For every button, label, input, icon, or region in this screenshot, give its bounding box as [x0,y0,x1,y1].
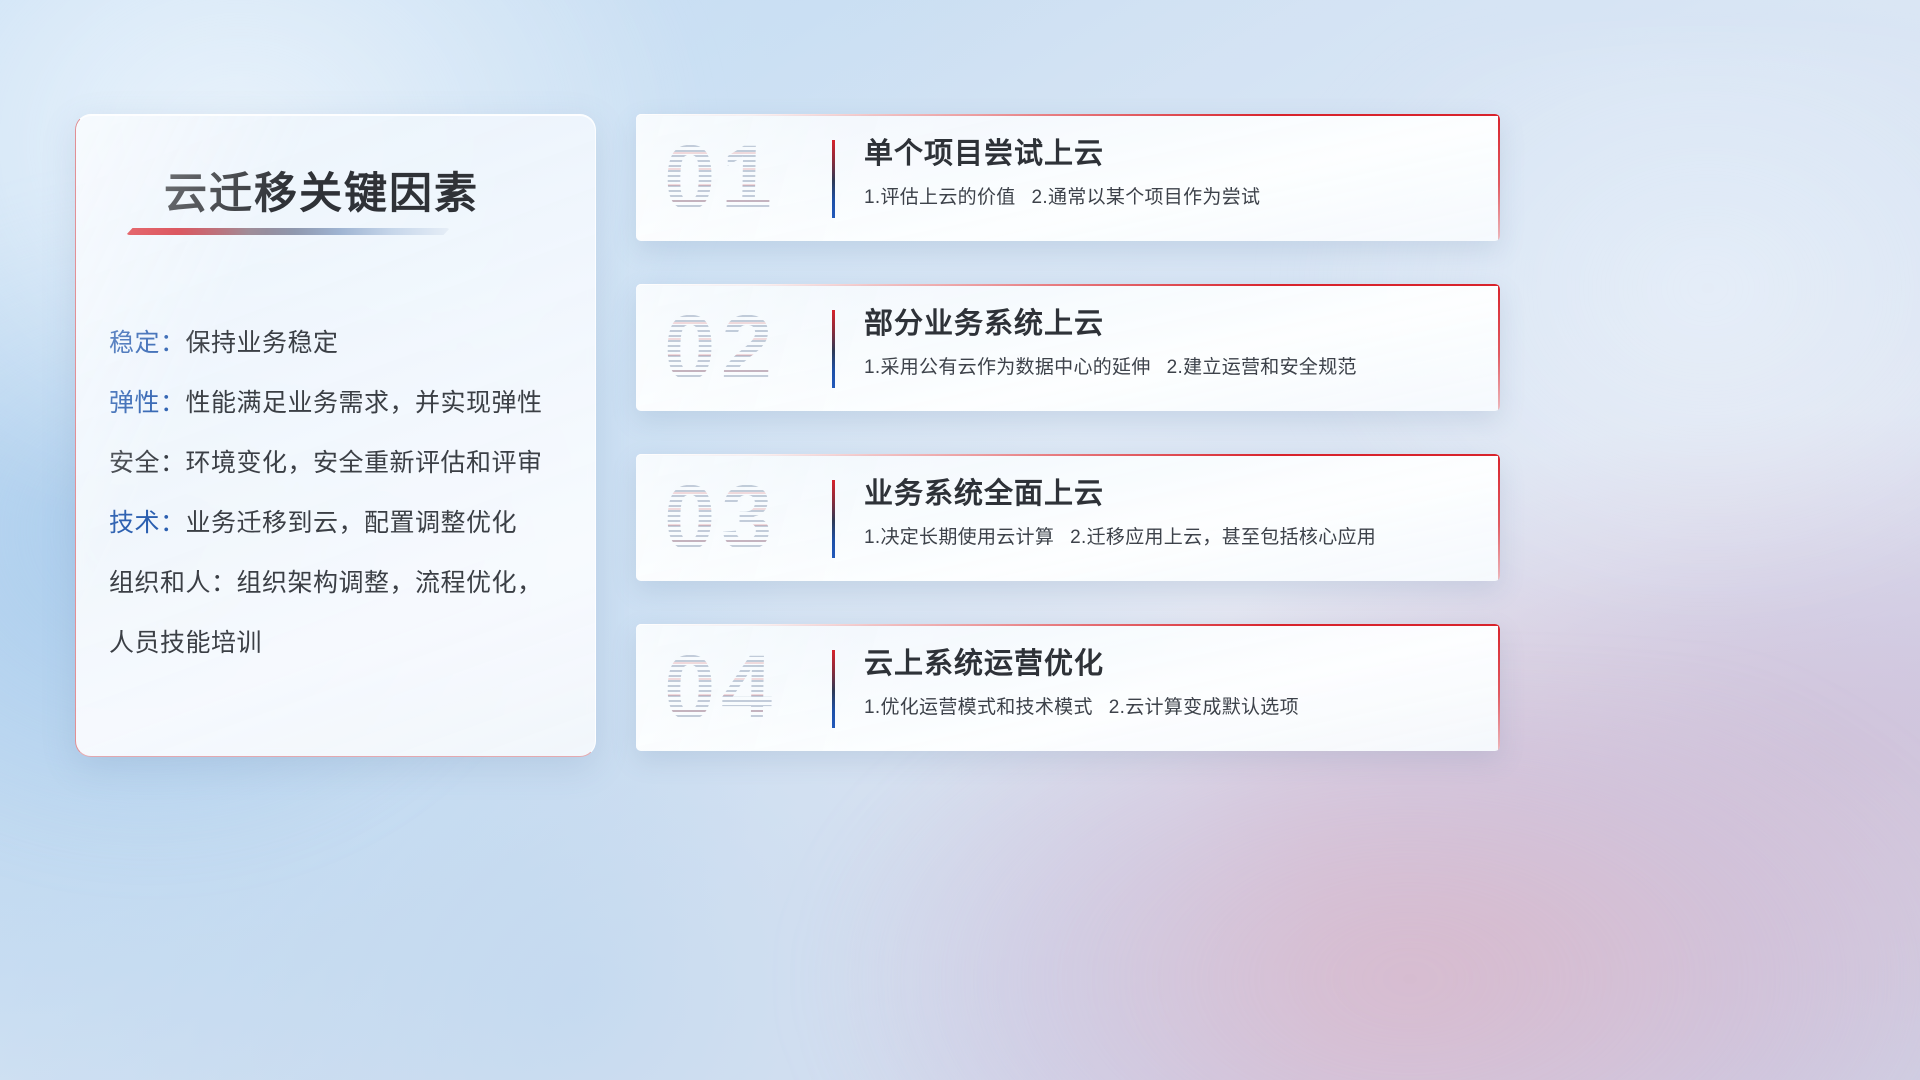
card-title: 业务系统全面上云 [864,474,1478,514]
list-item: 稳定：保持业务稳定 [109,313,573,373]
card-subtitle-part-2: 2.云计算变成默认选项 [1109,697,1299,718]
card-subtitle-part-2: 2.迁移应用上云，甚至包括核心应用 [1070,527,1376,548]
card-body: 部分业务系统上云 1.采用公有云作为数据中心的延伸2.建立运营和安全规范 [864,304,1478,381]
card-body: 业务系统全面上云 1.决定长期使用云计算2.迁移应用上云，甚至包括核心应用 [864,474,1478,551]
stage-card-list: 01 01 单个项目尝试上云 1.评估上云的价值2.通常以某个项目作为尝试 02… [636,114,1500,794]
card-subtitle: 1.决定长期使用云计算2.迁移应用上云，甚至包括核心应用 [864,525,1478,551]
card-title: 云上系统运营优化 [864,644,1478,684]
card-subtitle-part-1: 1.评估上云的价值 [864,187,1016,208]
card-subtitle-part-1: 1.优化运营模式和技术模式 [864,697,1093,718]
bullet-label: 弹性： [109,389,186,417]
bullet-text: 保持业务稳定 [186,329,339,357]
bullet-text: 业务迁移到云，配置调整优化 [186,509,518,537]
list-item: 技术：业务迁移到云，配置调整优化 [109,493,573,553]
card-divider-bar [832,650,835,728]
stage-card[interactable]: 02 02 部分业务系统上云 1.采用公有云作为数据中心的延伸2.建立运营和安全… [636,284,1500,411]
card-title: 部分业务系统上云 [864,304,1478,344]
list-item: 组织和人：组织架构调整，流程优化， [109,553,573,613]
page-title: 云迁移关键因素 [164,159,479,221]
card-divider-bar [832,140,835,218]
card-subtitle-part-2: 2.建立运营和安全规范 [1167,357,1357,378]
stage-card[interactable]: 04 04 云上系统运营优化 1.优化运营模式和技术模式2.云计算变成默认选项 [636,624,1500,751]
card-divider-bar [832,310,835,388]
stage-number-ghost: 03 [663,460,855,576]
list-item: 安全：环境变化，安全重新评估和评审 [109,433,573,493]
key-factors-list: 稳定：保持业务稳定 弹性：性能满足业务需求，并实现弹性 安全：环境变化，安全重新… [109,313,573,673]
bullet-text: 组织架构调整，流程优化， [237,569,543,597]
title-underline-gradient [126,228,450,235]
stage-number-ghost: 04 [663,630,855,746]
card-subtitle-part-1: 1.决定长期使用云计算 [864,527,1054,548]
card-divider-bar [832,480,835,558]
slide-stage: 云迁移关键因素 稳定：保持业务稳定 弹性：性能满足业务需求，并实现弹性 安全：环… [0,0,1920,1080]
card-subtitle: 1.采用公有云作为数据中心的延伸2.建立运营和安全规范 [864,355,1478,381]
card-body: 单个项目尝试上云 1.评估上云的价值2.通常以某个项目作为尝试 [864,134,1478,211]
key-factors-panel: 云迁移关键因素 稳定：保持业务稳定 弹性：性能满足业务需求，并实现弹性 安全：环… [75,114,596,757]
card-subtitle-part-2: 2.通常以某个项目作为尝试 [1032,187,1261,208]
card-body: 云上系统运营优化 1.优化运营模式和技术模式2.云计算变成默认选项 [864,644,1478,721]
card-subtitle-part-1: 1.采用公有云作为数据中心的延伸 [864,357,1151,378]
stage-number-ghost: 02 [663,290,855,406]
stage-card[interactable]: 03 03 业务系统全面上云 1.决定长期使用云计算2.迁移应用上云，甚至包括核… [636,454,1500,581]
bullet-text: 环境变化，安全重新评估和评审 [186,449,543,477]
card-subtitle: 1.评估上云的价值2.通常以某个项目作为尝试 [864,185,1478,211]
card-subtitle: 1.优化运营模式和技术模式2.云计算变成默认选项 [864,695,1478,721]
bullet-label: 技术： [109,509,186,537]
bullet-text-continuation: 人员技能培训 [109,613,573,673]
bullet-label: 组织和人： [109,569,237,597]
bullet-text: 性能满足业务需求，并实现弹性 [186,389,543,417]
card-title: 单个项目尝试上云 [864,134,1478,174]
bullet-label: 安全： [109,449,186,477]
bullet-label: 稳定： [109,329,186,357]
list-item: 弹性：性能满足业务需求，并实现弹性 [109,373,573,433]
stage-number-ghost: 01 [663,120,855,236]
stage-card[interactable]: 01 01 单个项目尝试上云 1.评估上云的价值2.通常以某个项目作为尝试 [636,114,1500,241]
